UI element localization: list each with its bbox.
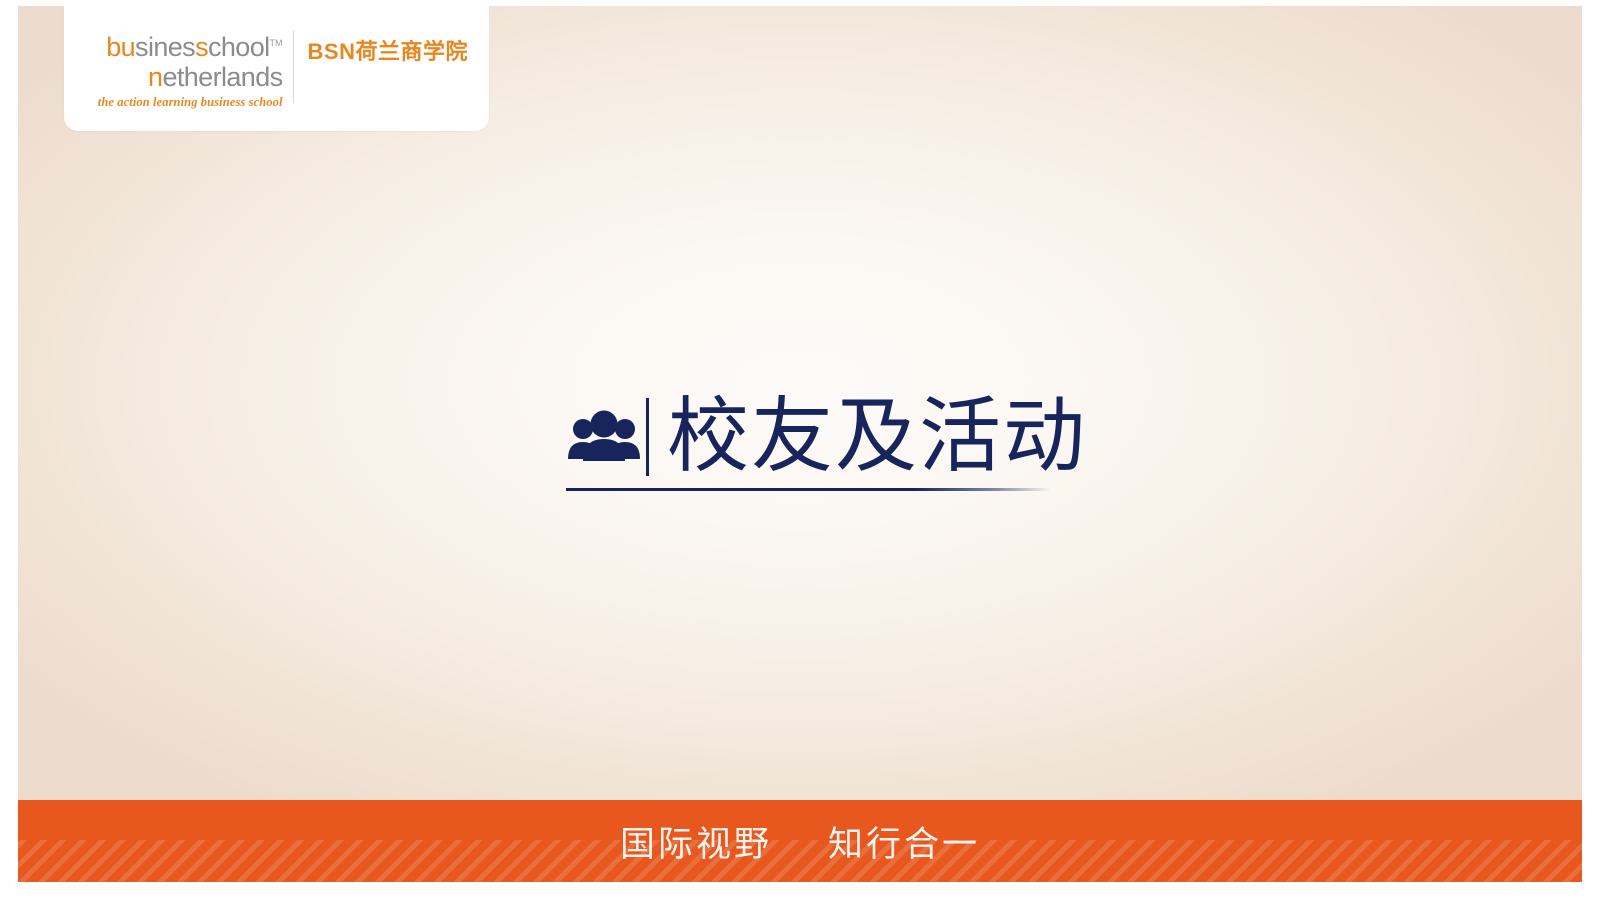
brand-logo-wordmark: businesschoolTM netherlands the action l… [88,30,293,109]
brand-logo-bu: bu [106,32,135,62]
title-separator [646,398,649,476]
users-group-icon [566,408,642,466]
slide-title-block: 校友及活动 [566,389,1056,485]
footer-slogan: 国际视野 知行合一 [18,800,1582,882]
trademark-icon: TM [270,38,283,48]
brand-tagline: the action learning business school [88,95,283,109]
footer-bar: 国际视野 知行合一 [18,800,1582,882]
footer-slogan-right: 知行合一 [828,816,980,867]
brand-logo-n: n [148,62,162,92]
brand-logo: businesschoolTM netherlands the action l… [88,30,468,120]
page-title: 校友及活动 [667,394,1087,480]
title-underline [566,488,1051,491]
brand-chinese-name: BSN荷兰商学院 [294,36,468,68]
brand-logo-panel: businesschoolTM netherlands the action l… [64,6,489,131]
slide-title-row: 校友及活动 [566,389,1056,485]
footer-slogan-left: 国际视野 [620,816,772,867]
brand-logo-sines: sines [135,32,195,62]
brand-logo-line-2: netherlands [88,64,283,91]
brand-logo-s: s [195,32,208,62]
presentation-slide: businesschoolTM netherlands the action l… [0,0,1600,900]
brand-logo-line-1: businesschoolTM [88,30,283,61]
slide-canvas: businesschoolTM netherlands the action l… [18,6,1582,882]
brand-logo-chool: chool [208,32,270,62]
brand-logo-etherlands: etherlands [162,62,282,92]
